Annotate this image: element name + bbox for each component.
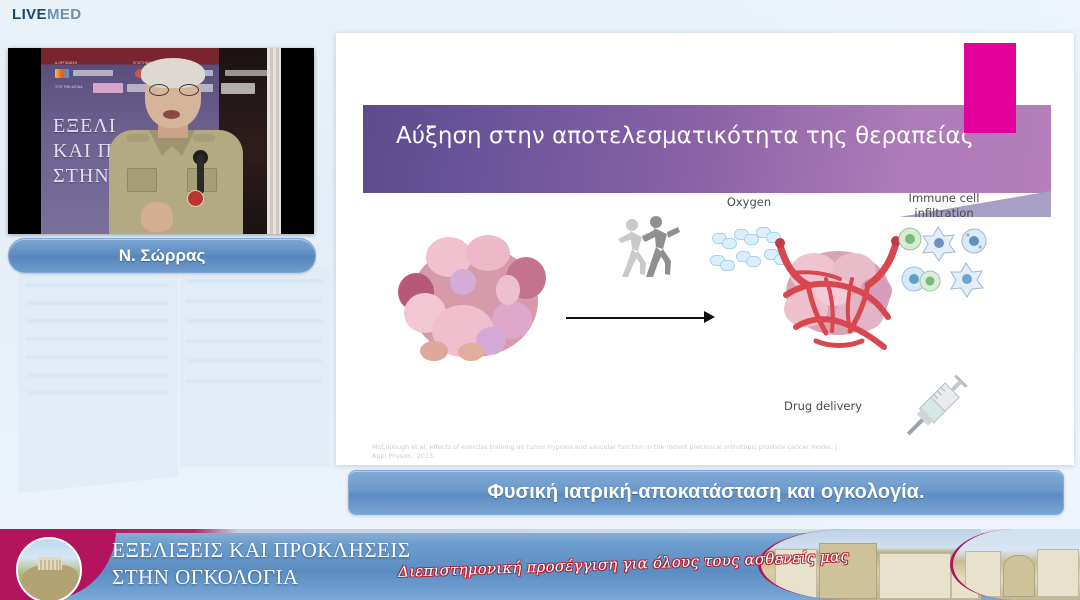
hospital-watermark-image: [0, 255, 350, 535]
video-frame: Δ.ΟΡΓΑΝΩΣΗ ΕΠΙΣΤΗΜΟΝΙΚΗ ΕΠΙΤΡΟΠΗ ΥΠΟ ΤΗΝ…: [41, 48, 281, 234]
transformation-arrow-line: [566, 317, 708, 319]
immune-label-line1: Immune cell: [892, 191, 996, 206]
drug-delivery-label: Drug delivery: [784, 399, 894, 414]
banner-title-line1: ΕΞΕΛΙΞΕΙΣ ΚΑΙ ΠΡΟΚΛΗΣΕΙΣ: [112, 537, 411, 564]
speaker-figure: [101, 58, 251, 234]
slide-title-banner: Αύξηση στην αποτελεσματικότητα της θεραπ…: [363, 105, 1051, 193]
banner-title-line2: ΣΤΗΝ ΟΓΚΟΛΟΓΙΑ: [112, 564, 411, 591]
hospital-photo-2: [950, 529, 1080, 600]
magenta-accent-rectangle: [964, 43, 1016, 133]
immune-cells-svg: [898, 223, 990, 301]
livemed-webcast-viewer: LIVEMED Δ.ΟΡΓΑΝΩΣΗ ΕΠΙΣΤΗΜΟΝΙΚΗ ΕΠΙΤΡΟΠΗ…: [0, 0, 1080, 600]
speaker-video-player[interactable]: Δ.ΟΡΓΑΝΩΣΗ ΕΠΙΣΤΗΜΟΝΙΚΗ ΕΠΙΤΡΟΠΗ ΥΠΟ ΤΗΝ…: [8, 48, 314, 234]
acropolis-photo: [16, 537, 82, 600]
session-caption-text: Φυσική ιατρική-αποκατάσταση και ογκολογί…: [487, 481, 924, 504]
logo-med-text: MED: [47, 6, 82, 23]
transformation-arrow-head: [704, 311, 715, 323]
presentation-slide[interactable]: Αύξηση στην αποτελεσματικότητα της θεραπ…: [336, 33, 1074, 465]
immune-label-line2: infiltration: [892, 206, 996, 221]
speaker-name-badge: Ν. Σώρρας: [8, 238, 316, 273]
syringe-svg: [892, 363, 974, 447]
logo-live-text: LIVE: [12, 6, 47, 23]
slide-diagram: Oxygen: [336, 193, 1074, 465]
oxygen-label: Oxygen: [704, 195, 794, 210]
speaker-name-text: Ν. Σώρρας: [119, 246, 206, 266]
syringe-icon: [892, 363, 974, 447]
tumor-mass-illustration: [396, 231, 556, 361]
vascularized-tumor-illustration: [756, 221, 916, 361]
runners-svg: [612, 215, 682, 287]
slide-title-text: Αύξηση στην αποτελεσματικότητα της θεραπ…: [396, 121, 996, 152]
session-caption-bar: Φυσική ιατρική-αποκατάσταση και ογκολογί…: [348, 470, 1064, 515]
tumor-vessels-svg: [756, 221, 916, 361]
immune-cell-label: Immune cell infiltration: [892, 191, 996, 221]
banner-title: ΕΞΕΛΙΞΕΙΣ ΚΑΙ ΠΡΟΚΛΗΣΕΙΣ ΣΤΗΝ ΟΓΚΟΛΟΓΙΑ: [112, 537, 411, 591]
exercise-runners-icon: [612, 215, 682, 287]
immune-cells-illustration: [898, 223, 990, 301]
livemed-logo[interactable]: LIVEMED: [12, 6, 82, 24]
slide-citation: McCullough et al. effects of exercise tr…: [372, 443, 842, 461]
